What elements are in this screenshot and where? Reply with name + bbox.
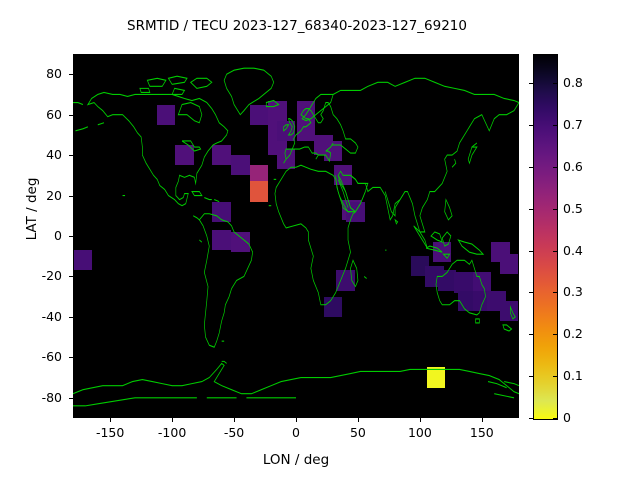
heatmap-cell bbox=[297, 121, 316, 141]
colorbar-tick-label: 0.8 bbox=[563, 75, 583, 90]
heatmap-cell bbox=[231, 155, 250, 175]
colorbar-tick bbox=[553, 125, 557, 126]
x-axis-tick-label: -150 bbox=[80, 425, 140, 440]
y-axis-tick bbox=[69, 196, 73, 197]
colorbar-tick bbox=[553, 167, 557, 168]
y-axis-tick-label: 40 bbox=[0, 147, 62, 162]
map-plot-area bbox=[73, 54, 519, 418]
heatmap-cell bbox=[231, 232, 250, 252]
colorbar-tick bbox=[553, 418, 557, 419]
heatmap-cell bbox=[212, 230, 231, 250]
y-axis-tick bbox=[69, 115, 73, 116]
heatmap-cell bbox=[324, 141, 343, 161]
y-axis-tick-label: 20 bbox=[0, 188, 62, 203]
x-axis-tick-label: -100 bbox=[142, 425, 202, 440]
y-axis-tick bbox=[69, 74, 73, 75]
x-axis-tick-label: 50 bbox=[328, 425, 388, 440]
x-axis-tick-label: 0 bbox=[266, 425, 326, 440]
colorbar-tick-label: 0.1 bbox=[563, 368, 583, 383]
x-axis-label: LON / deg bbox=[73, 452, 519, 468]
heatmap-cell bbox=[324, 297, 343, 317]
colorbar-tick-inner bbox=[529, 334, 533, 335]
heatmap-cell bbox=[268, 101, 287, 121]
heatmap-cell bbox=[427, 367, 446, 387]
x-axis-tick bbox=[420, 418, 421, 422]
colorbar bbox=[533, 54, 558, 420]
heatmap-cell bbox=[346, 202, 365, 222]
x-axis-tick bbox=[358, 418, 359, 422]
heatmap-cell bbox=[334, 165, 353, 185]
x-axis-tick bbox=[110, 418, 111, 422]
heatmap-cell bbox=[250, 105, 269, 125]
y-axis-tick bbox=[69, 276, 73, 277]
heatmap-cell bbox=[500, 254, 519, 274]
y-axis-tick bbox=[69, 317, 73, 318]
colorbar-tick-inner bbox=[529, 83, 533, 84]
colorbar-tick-label: 0.7 bbox=[563, 117, 583, 132]
colorbar-gradient bbox=[534, 55, 557, 419]
y-axis-tick-label: 80 bbox=[0, 66, 62, 81]
colorbar-tick-inner bbox=[529, 209, 533, 210]
x-axis-tick-label: -50 bbox=[204, 425, 264, 440]
colorbar-tick-inner bbox=[529, 376, 533, 377]
colorbar-tick bbox=[553, 83, 557, 84]
colorbar-tick-inner bbox=[529, 125, 533, 126]
heatmap-cells-layer bbox=[73, 54, 519, 418]
heatmap-cell bbox=[500, 301, 519, 321]
heatmap-cell bbox=[336, 270, 355, 290]
colorbar-tick bbox=[553, 334, 557, 335]
heatmap-cell bbox=[74, 250, 93, 270]
heatmap-cell bbox=[454, 272, 473, 292]
chart-title: SRMTID / TECU 2023-127_68340-2023-127_69… bbox=[0, 18, 594, 34]
y-axis-tick-label: 60 bbox=[0, 107, 62, 122]
colorbar-tick-label: 0.5 bbox=[563, 201, 583, 216]
heatmap-cell bbox=[212, 145, 231, 165]
colorbar-tick-label: 0.2 bbox=[563, 326, 583, 341]
y-axis-tick bbox=[69, 398, 73, 399]
x-axis-tick-label: 150 bbox=[452, 425, 512, 440]
x-axis-tick bbox=[482, 418, 483, 422]
y-axis-tick bbox=[69, 236, 73, 237]
y-axis-tick-label: -80 bbox=[0, 390, 62, 405]
heatmap-cell bbox=[433, 242, 452, 262]
colorbar-tick-inner bbox=[529, 292, 533, 293]
colorbar-tick bbox=[553, 251, 557, 252]
heatmap-cell bbox=[175, 145, 194, 165]
x-axis-tick bbox=[296, 418, 297, 422]
x-axis-tick bbox=[172, 418, 173, 422]
y-axis-label: LAT / deg bbox=[24, 149, 40, 269]
colorbar-tick-inner bbox=[529, 418, 533, 419]
x-axis-tick bbox=[234, 418, 235, 422]
y-axis-tick-label: 0 bbox=[0, 228, 62, 243]
heatmap-cell bbox=[157, 105, 176, 125]
x-axis-tick-label: 100 bbox=[390, 425, 450, 440]
heatmap-cell bbox=[473, 272, 492, 292]
colorbar-tick-inner bbox=[529, 167, 533, 168]
y-axis-tick-label: -40 bbox=[0, 309, 62, 324]
colorbar-tick-label: 0.3 bbox=[563, 284, 583, 299]
colorbar-tick-label: 0.4 bbox=[563, 243, 583, 258]
y-axis-tick-label: -20 bbox=[0, 268, 62, 283]
y-axis-tick bbox=[69, 357, 73, 358]
colorbar-tick-label: 0.6 bbox=[563, 159, 583, 174]
colorbar-tick-label: 0 bbox=[563, 410, 571, 425]
heatmap-cell bbox=[277, 121, 296, 141]
figure-root: SRMTID / TECU 2023-127_68340-2023-127_69… bbox=[0, 0, 640, 480]
heatmap-cell bbox=[277, 149, 296, 169]
colorbar-tick-inner bbox=[529, 251, 533, 252]
y-axis-tick bbox=[69, 155, 73, 156]
colorbar-tick bbox=[553, 209, 557, 210]
colorbar-tick bbox=[553, 292, 557, 293]
colorbar-tick bbox=[553, 376, 557, 377]
y-axis-tick-label: -60 bbox=[0, 349, 62, 364]
heatmap-cell bbox=[250, 181, 269, 201]
heatmap-cell bbox=[212, 202, 231, 222]
heatmap-cell bbox=[297, 101, 316, 121]
